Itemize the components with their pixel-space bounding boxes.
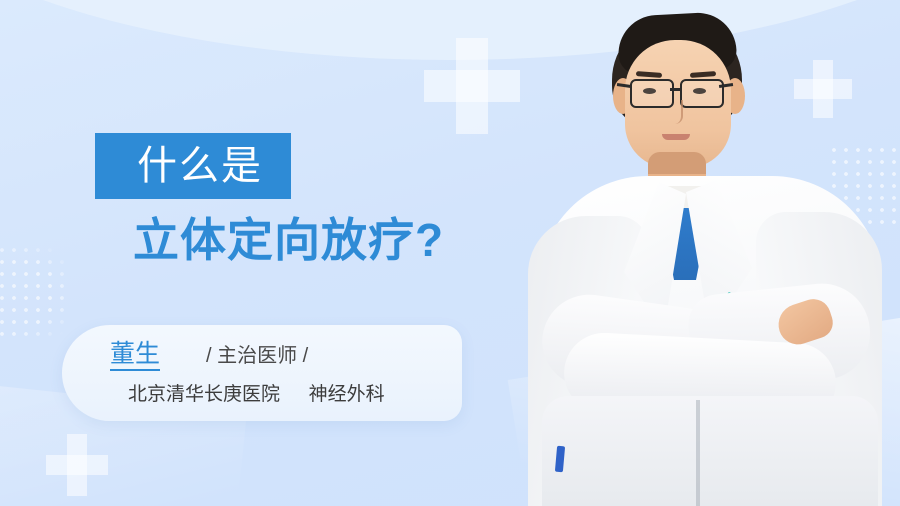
dot-grid-pattern [0, 244, 70, 344]
video-cover-banner: 什么是 立体定向放疗? 董生 / 主治医师 / 北京清华长庚医院 神经外科 [0, 0, 900, 506]
title-block: 什么是 立体定向放疗? [95, 133, 444, 263]
doctor-title: / 主治医师 / [206, 346, 308, 366]
glasses-bridge [670, 88, 680, 91]
coat-placket [696, 400, 700, 506]
medical-cross-icon [424, 38, 520, 134]
mouth-shape [662, 134, 690, 140]
neck-shadow [648, 152, 706, 174]
title-badge: 什么是 [95, 133, 291, 199]
coat-lower-section [542, 396, 878, 506]
doctor-secondary-row: 北京清华长庚医院 神经外科 [62, 385, 462, 404]
doctor-primary-row: 董生 / 主治医师 / [62, 342, 462, 371]
page-title: 立体定向放疗? [133, 217, 444, 263]
doctor-department: 神经外科 [309, 384, 385, 405]
glasses-lens-left [630, 79, 674, 108]
nose-shape [669, 100, 683, 124]
doctor-portrait [520, 0, 900, 506]
doctor-hospital: 北京清华长庚医院 [128, 384, 280, 405]
doctor-info-card[interactable]: 董生 / 主治医师 / 北京清华长庚医院 神经外科 [62, 325, 462, 421]
medical-cross-icon [46, 434, 108, 496]
glasses-lens-right [680, 79, 724, 108]
doctor-name[interactable]: 董生 [110, 342, 160, 371]
